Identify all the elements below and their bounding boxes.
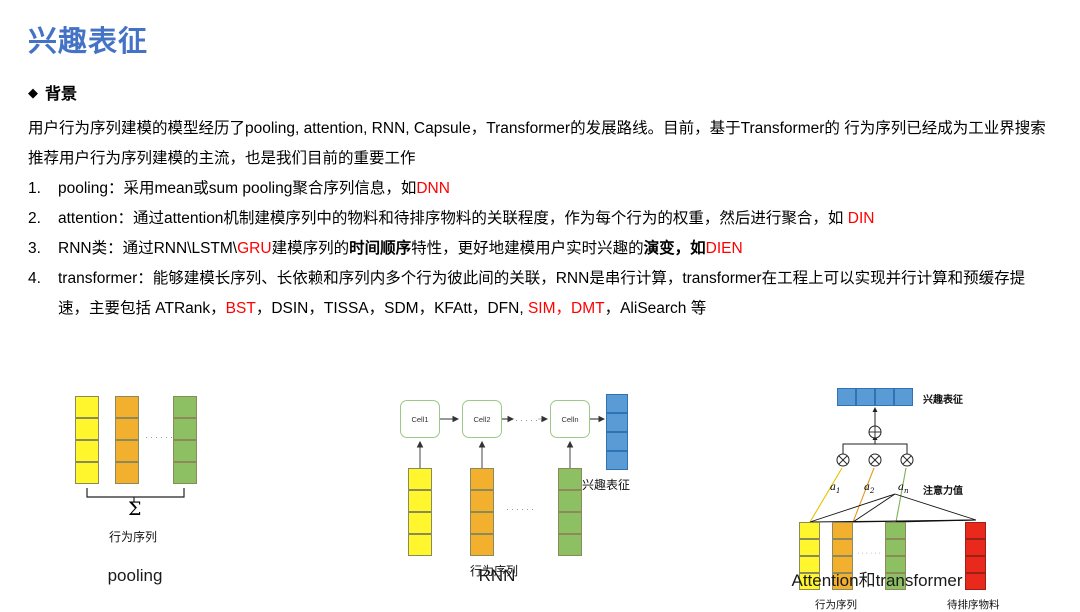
list-item-text: transformer：能够建模长序列、长依赖和序列内多个行为彼此间的关联，RN… <box>58 264 1054 324</box>
sigma-symbol: Σ <box>128 498 141 520</box>
vector-cell <box>470 512 494 534</box>
attention-weight-1: a1 <box>830 482 840 495</box>
diamond-bullet-icon: ◆ <box>28 86 38 99</box>
list-item-number: 2. <box>28 204 58 234</box>
highlighted-model-name: DIEN <box>706 240 743 257</box>
section-heading-label: 背景 <box>45 80 77 104</box>
attention-sequence-label: 行为序列 <box>815 597 857 612</box>
highlighted-model-name: DIN <box>848 210 875 227</box>
list-item: 3.RNN类：通过RNN\LSTM\GRU建模序列的时间顺序特性，更好地建模用户… <box>28 234 1054 264</box>
vector-cell <box>558 512 582 534</box>
highlighted-model-name: BST <box>226 300 256 317</box>
list-item-number: 4. <box>28 264 58 294</box>
plain-text: pooling：采用mean或sum pooling聚合序列信息，如 <box>58 180 416 197</box>
attention-vector-ellipsis: ······ <box>857 550 883 557</box>
vector-cell <box>799 522 820 539</box>
attention-weight-2-sub: 2 <box>870 487 874 495</box>
highlighted-model-name: GRU <box>237 240 271 257</box>
vector-cell <box>470 534 494 556</box>
vector-cell <box>885 539 906 556</box>
list-item-number: 1. <box>28 174 58 204</box>
attention-weight-n: an <box>898 482 908 495</box>
vector-cell <box>832 522 853 539</box>
vector-cell <box>408 490 432 512</box>
plain-text: ，DSIN，TISSA，SDM，KFAtt，DFN, <box>256 300 528 317</box>
page-title: 兴趣表征 <box>28 18 148 60</box>
rnn-vector-ellipsis: ······ <box>506 504 536 514</box>
emphasis-text: 演变，如 <box>644 240 706 257</box>
list-item: 2.attention：通过attention机制建模序列中的物料和待排序物料的… <box>28 204 1054 234</box>
attention-target-label: 待排序物料 <box>947 597 1000 612</box>
plain-text: 建模序列的 <box>272 240 350 257</box>
plain-text: 特性，更好地建模用户实时兴趣的 <box>411 240 644 257</box>
rnn-output-vector <box>606 394 628 470</box>
rnn-column-2 <box>470 468 494 556</box>
plain-text: ，AliSearch 等 <box>605 300 707 317</box>
vector-cell <box>558 534 582 556</box>
attention-caption: Attention和transformer <box>747 566 1007 591</box>
intro-paragraph: 用户行为序列建模的模型经历了pooling, attention, RNN, C… <box>28 114 1054 174</box>
intro-line-1: 用户行为序列建模的模型经历了pooling, attention, RNN, C… <box>28 120 840 137</box>
list-item: 4.transformer：能够建模长序列、长依赖和序列内多个行为彼此间的关联，… <box>28 264 1054 324</box>
attention-weight-n-sub: n <box>904 487 909 495</box>
vector-cell <box>885 522 906 539</box>
rnn-column-1 <box>408 468 432 556</box>
attention-weight-2: a2 <box>864 482 874 495</box>
rnn-caption: RNN <box>367 566 627 586</box>
rnn-output-label: 兴趣表征 <box>582 476 630 493</box>
list-item: 1.pooling：采用mean或sum pooling聚合序列信息，如DNN <box>28 174 1054 204</box>
highlighted-model-name: SIM，DMT <box>528 300 605 317</box>
vector-cell <box>558 468 582 490</box>
vector-cell <box>558 490 582 512</box>
vector-cell <box>965 522 986 539</box>
highlighted-model-name: DNN <box>416 180 450 197</box>
pooling-sequence-label: 行为序列 <box>109 528 157 545</box>
vector-cell <box>470 468 494 490</box>
slide-root: 兴趣表征 ◆ 背景 用户行为序列建模的模型经历了pooling, attenti… <box>0 0 1080 608</box>
diagram-row: ······ Σ 行为序列 pooling Cell1 Cell2 <box>0 382 1080 608</box>
vector-cell <box>606 394 628 413</box>
attention-weights-label: 注意力值 <box>923 482 963 497</box>
rnn-column-3 <box>558 468 582 556</box>
pooling-caption: pooling <box>5 566 265 586</box>
list-item-text: attention：通过attention机制建模序列中的物料和待排序物料的关联… <box>58 204 1054 234</box>
vector-cell <box>408 468 432 490</box>
vector-cell <box>606 413 628 432</box>
figure-attention: 兴趣表征 <box>775 382 1045 608</box>
list-item-number: 3. <box>28 234 58 264</box>
attention-weight-1-sub: 1 <box>836 487 840 495</box>
vector-cell <box>965 539 986 556</box>
list-item-text: RNN类：通过RNN\LSTM\GRU建模序列的时间顺序特性，更好地建模用户实时… <box>58 234 1054 264</box>
plain-text: RNN类：通过RNN\LSTM\ <box>58 240 237 257</box>
numbered-list: 1.pooling：采用mean或sum pooling聚合序列信息，如DNN2… <box>28 174 1054 324</box>
vector-cell <box>832 539 853 556</box>
vector-cell <box>606 432 628 451</box>
figure-rnn: Cell1 Cell2 Celln ······ <box>392 382 652 608</box>
plain-text: attention：通过attention机制建模序列中的物料和待排序物料的关联… <box>58 210 848 227</box>
body-content: 用户行为序列建模的模型经历了pooling, attention, RNN, C… <box>28 114 1054 324</box>
vector-cell <box>408 512 432 534</box>
vector-cell <box>408 534 432 556</box>
section-heading: ◆ 背景 <box>28 80 77 104</box>
vector-cell <box>799 539 820 556</box>
vector-cell <box>606 451 628 470</box>
emphasis-text: 时间顺序 <box>349 240 411 257</box>
list-item-text: pooling：采用mean或sum pooling聚合序列信息，如DNN <box>58 174 1054 204</box>
vector-cell <box>470 490 494 512</box>
figure-pooling: ······ Σ 行为序列 pooling <box>60 382 260 608</box>
